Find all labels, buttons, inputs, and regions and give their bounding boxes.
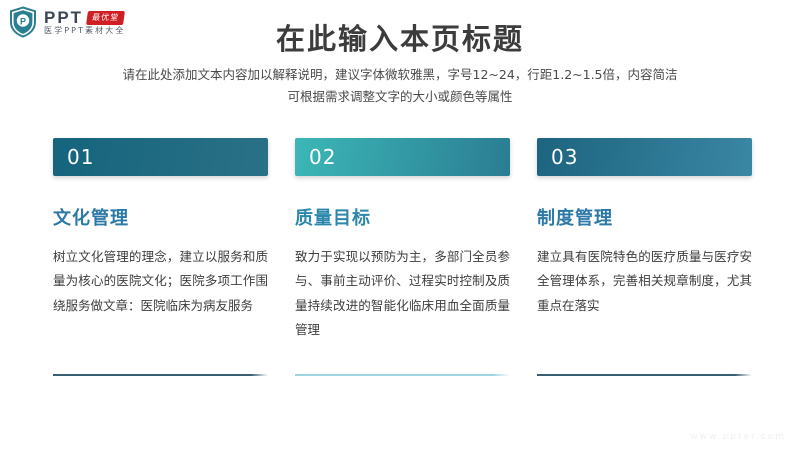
card-01-divider [53, 374, 268, 376]
card-01-heading: 文化管理 [53, 204, 268, 230]
card-list: 01 文化管理 树立文化管理的理念，建立以服务和质量为核心的医院文化；医院多项工… [53, 138, 753, 343]
subtitle-line-2: 可根据需求调整文字的大小或颜色等属性 [0, 86, 800, 108]
subtitle-line-1: 请在此处添加文本内容加以解释说明，建议字体微软雅黑，字号12~24，行距1.2~… [0, 64, 800, 86]
card-03-heading: 制度管理 [537, 204, 752, 230]
card-02-header: 02 [295, 138, 510, 176]
card-02-heading: 质量目标 [295, 204, 510, 230]
card-03-header: 03 [537, 138, 752, 176]
card-01-header: 01 [53, 138, 268, 176]
card-02[interactable]: 02 质量目标 致力于实现以预防为主，多部门全员参与、事前主动评价、过程实时控制… [295, 138, 510, 343]
card-03-body: 建立具有医院特色的医疗质量与医疗安全管理体系，完善相关规章制度，尤其重点在落实 [537, 245, 752, 318]
card-03-number: 03 [551, 145, 578, 169]
card-03-divider [537, 374, 752, 376]
card-02-divider [295, 374, 510, 376]
page-title: 在此输入本页标题 [0, 16, 800, 58]
card-02-body: 致力于实现以预防为主，多部门全员参与、事前主动评价、过程实时控制及质量持续改进的… [295, 245, 510, 343]
card-01[interactable]: 01 文化管理 树立文化管理的理念，建立以服务和质量为核心的医院文化；医院多项工… [53, 138, 268, 343]
card-03[interactable]: 03 制度管理 建立具有医院特色的医疗质量与医疗安全管理体系，完善相关规章制度，… [537, 138, 752, 343]
site-watermark: www.ppter.com [690, 432, 786, 442]
page-subtitle: 请在此处添加文本内容加以解释说明，建议字体微软雅黑，字号12~24，行距1.2~… [0, 64, 800, 108]
card-02-number: 02 [309, 145, 336, 169]
card-01-body: 树立文化管理的理念，建立以服务和质量为核心的医院文化；医院多项工作围绕服务做文章… [53, 245, 268, 318]
card-01-number: 01 [67, 145, 94, 169]
